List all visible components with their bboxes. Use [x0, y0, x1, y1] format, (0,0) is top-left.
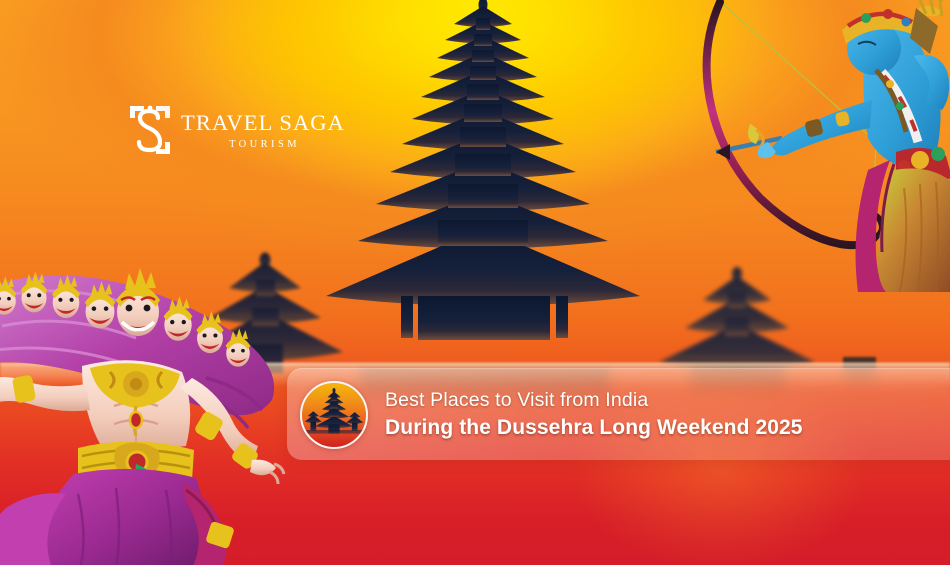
pagoda-sunset-badge-icon	[300, 381, 368, 449]
headline-banner: Best Places to Visit from India During t…	[287, 368, 950, 460]
brand-subtitle: TOURISM	[181, 140, 345, 151]
rama-figure	[690, 0, 950, 292]
banner-headline-line1: Best Places to Visit from India	[385, 389, 803, 412]
dussehra-travel-banner: TRAVEL SAGA TOURISM	[0, 0, 950, 565]
travel-saga-s-monogram-icon	[128, 104, 172, 156]
banner-text-block: Best Places to Visit from India During t…	[385, 389, 803, 440]
ravana-figure	[0, 268, 286, 565]
main-pagoda	[318, 0, 648, 376]
brand-logo[interactable]: TRAVEL SAGA TOURISM	[128, 104, 345, 156]
brand-wordmark: TRAVEL SAGA TOURISM	[181, 110, 345, 150]
brand-title: TRAVEL SAGA	[181, 112, 345, 135]
banner-headline-line2: During the Dussehra Long Weekend 2025	[385, 416, 803, 440]
